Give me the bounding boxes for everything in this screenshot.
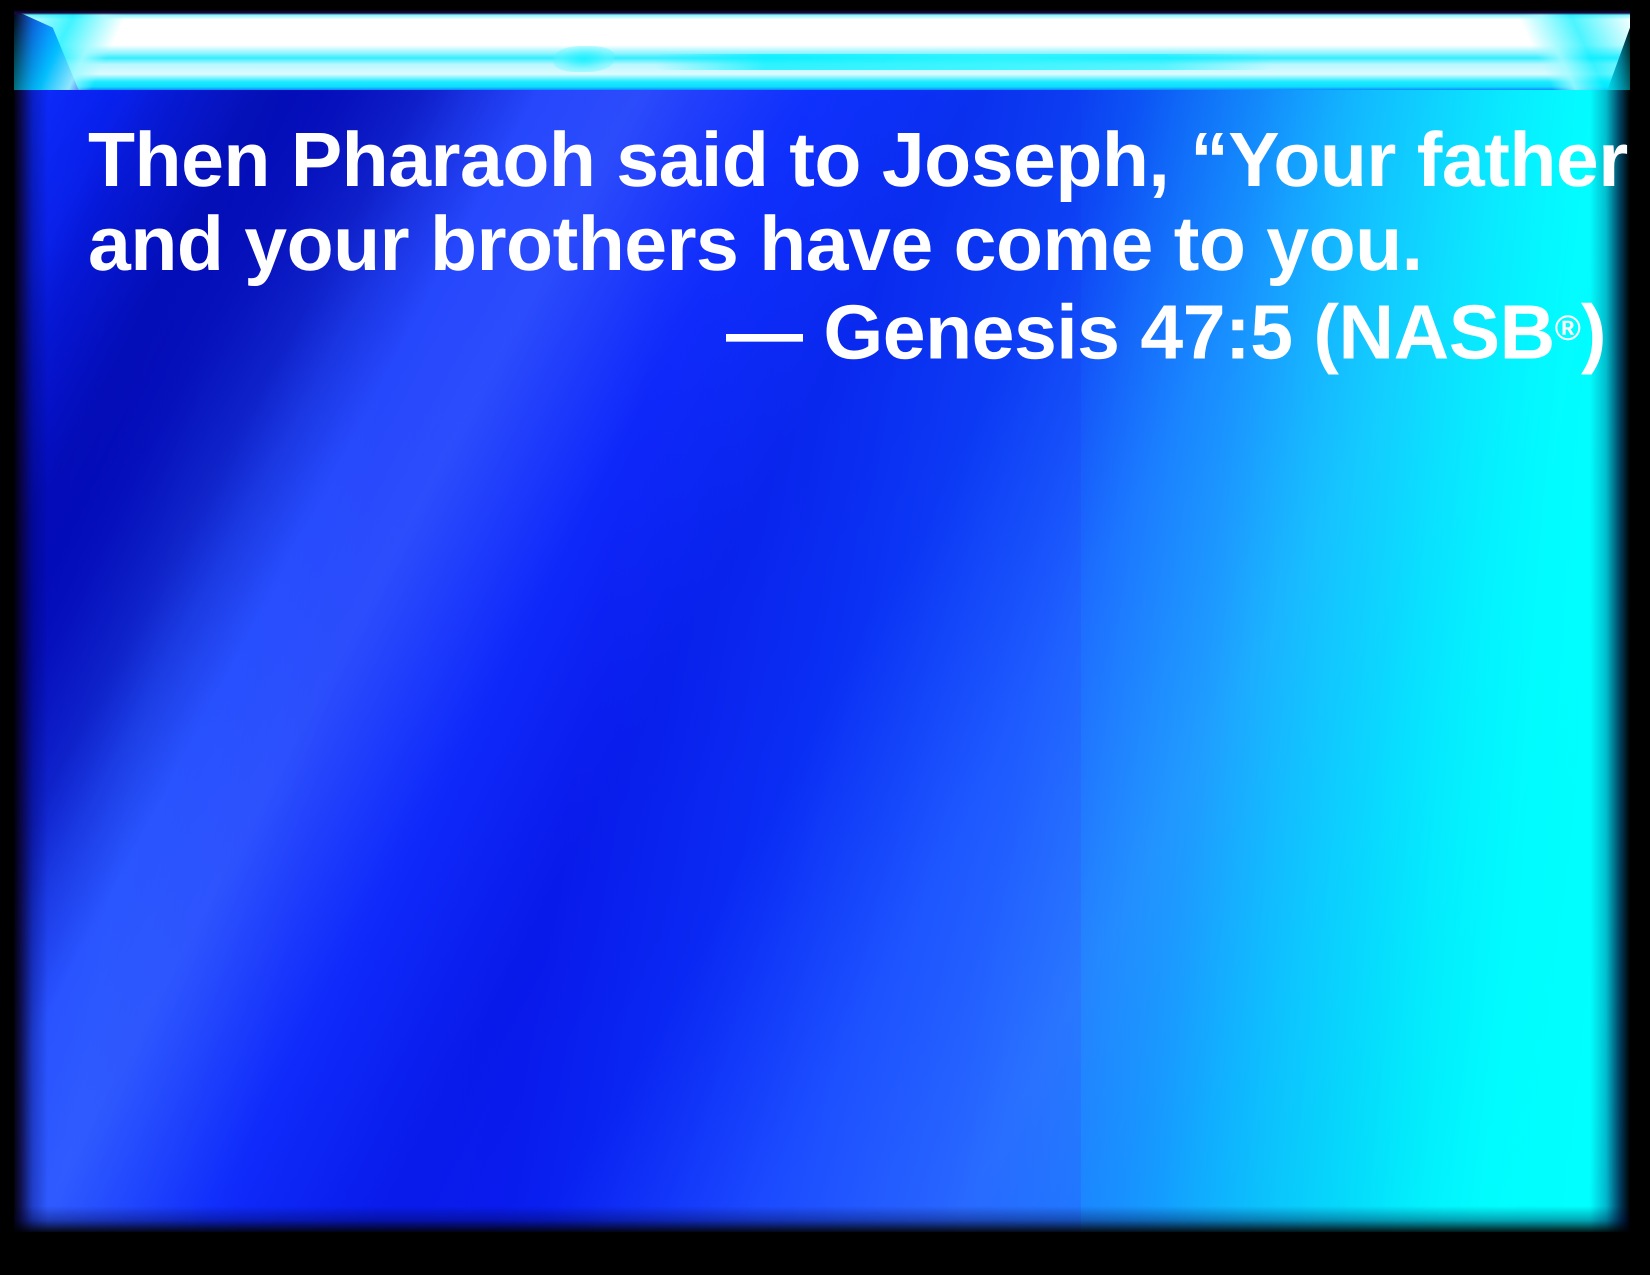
- header-band-left-taper: [14, 10, 124, 90]
- header-band-right-taper: [1520, 10, 1630, 90]
- header-band: [14, 10, 1630, 90]
- verse-slide: Then Pharaoh said to Joseph, “Your fathe…: [0, 0, 1650, 1275]
- background-cyan-glow: [1081, 10, 1630, 1232]
- background-bottom-edge-fade: [14, 1206, 1630, 1232]
- background-right-edge-fade: [1590, 10, 1630, 1232]
- header-band-top-edge: [14, 10, 1630, 15]
- background-left-edge-fade: [14, 10, 48, 1232]
- slide-background: [14, 10, 1630, 1232]
- header-band-core: [14, 10, 1630, 90]
- header-band-cyan-smudge: [552, 46, 617, 72]
- header-band-cyan-streak: [654, 54, 1274, 70]
